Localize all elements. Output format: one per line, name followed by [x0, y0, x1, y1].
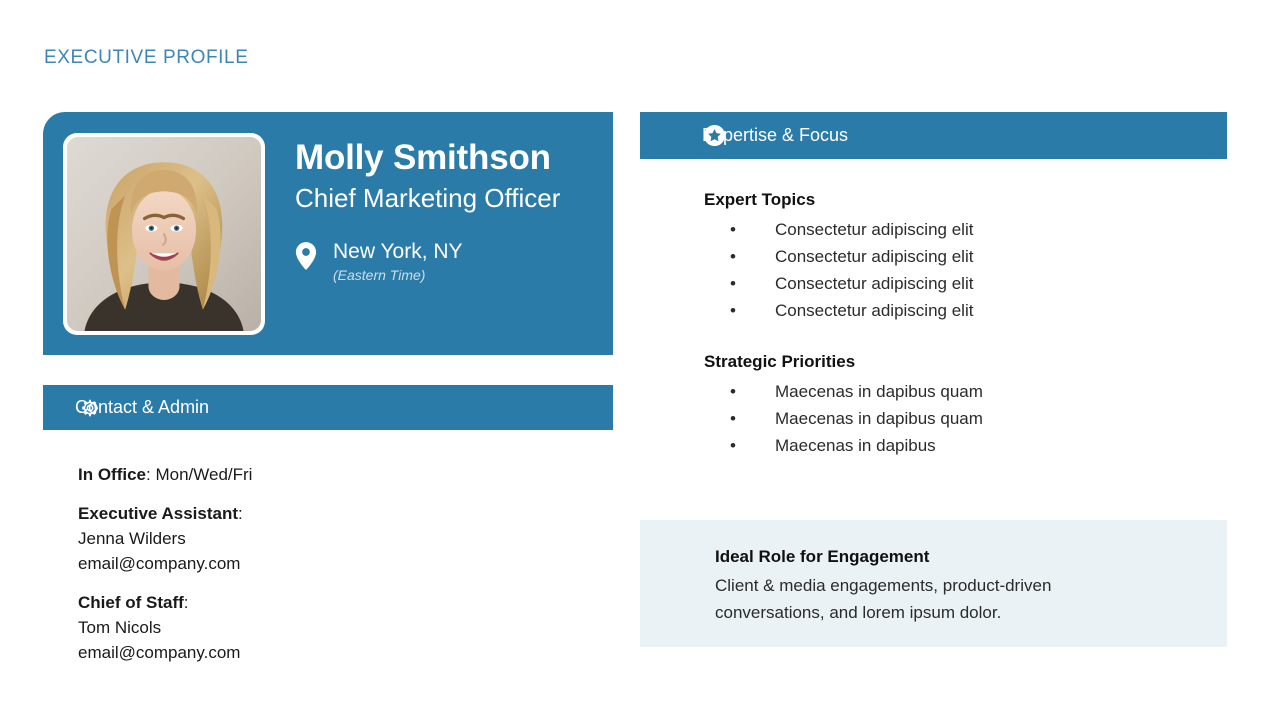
expert-topics-list: • Consectetur adipiscing elit • Consecte… [704, 216, 1224, 324]
contact-separator: : [238, 504, 243, 523]
bullet-icon: • [704, 243, 752, 270]
contact-line: In Office: Mon/Wed/Fri [78, 462, 598, 487]
group-spacer [704, 324, 1224, 352]
contact-email[interactable]: email@company.com [78, 640, 598, 665]
contact-label: Executive Assistant [78, 504, 238, 523]
location-timezone: (Eastern Time) [333, 267, 463, 283]
list-item-label: Maecenas in dapibus quam [752, 378, 983, 405]
contact-value: Mon/Wed/Fri [155, 465, 252, 484]
bullet-icon: • [704, 297, 752, 324]
avatar [63, 133, 265, 335]
strategic-priorities-group: Strategic Priorities • Maecenas in dapib… [704, 352, 1224, 459]
list-item: • Maecenas in dapibus [704, 432, 1224, 459]
bullet-icon: • [704, 432, 752, 459]
section-header-contact: Contact & Admin [43, 385, 613, 430]
callout-body-line: conversations, and lorem ipsum dolor. [715, 599, 1197, 626]
list-item-label: Maecenas in dapibus [752, 432, 936, 459]
profile-location: New York, NY (Eastern Time) [295, 240, 560, 283]
expert-topics-heading: Expert Topics [704, 190, 1224, 210]
list-item: • Maecenas in dapibus quam [704, 378, 1224, 405]
contact-email[interactable]: email@company.com [78, 551, 598, 576]
list-item-label: Consectetur adipiscing elit [752, 270, 973, 297]
contact-group-office: In Office: Mon/Wed/Fri [78, 462, 598, 487]
avatar-photo [67, 137, 261, 331]
strategic-priorities-heading: Strategic Priorities [704, 352, 1224, 372]
location-pin-icon [295, 241, 317, 271]
contact-person-name: Jenna Wilders [78, 526, 598, 551]
list-item-label: Maecenas in dapibus quam [752, 405, 983, 432]
gear-icon [78, 396, 102, 420]
contact-person-name: Tom Nicols [78, 615, 598, 640]
profile-job-title: Chief Marketing Officer [295, 183, 560, 214]
contact-line: Executive Assistant: [78, 501, 598, 526]
callout-title: Ideal Role for Engagement [715, 546, 1197, 568]
callout-body-line: Client & media engagements, product-driv… [715, 572, 1197, 599]
contact-group-executive-assistant: Executive Assistant: Jenna Wilders email… [78, 501, 598, 576]
list-item: • Consectetur adipiscing elit [704, 216, 1224, 243]
bullet-icon: • [704, 216, 752, 243]
profile-name: Molly Smithson [295, 138, 560, 177]
contact-label: Chief of Staff [78, 593, 184, 612]
ideal-role-callout: Ideal Role for Engagement Client & media… [640, 520, 1227, 647]
contact-line: Chief of Staff: [78, 590, 598, 615]
callout-body: Client & media engagements, product-driv… [715, 572, 1197, 626]
contact-separator: : [184, 593, 189, 612]
list-item-label: Consectetur adipiscing elit [752, 297, 973, 324]
strategic-priorities-list: • Maecenas in dapibus quam • Maecenas in… [704, 378, 1224, 459]
list-item-label: Consectetur adipiscing elit [752, 216, 973, 243]
profile-card: Molly Smithson Chief Marketing Officer N… [43, 112, 613, 355]
bullet-icon: • [704, 270, 752, 297]
list-item: • Consectetur adipiscing elit [704, 243, 1224, 270]
list-item: • Consectetur adipiscing elit [704, 270, 1224, 297]
expertise-content: Expert Topics • Consectetur adipiscing e… [704, 190, 1224, 459]
bullet-icon: • [704, 405, 752, 432]
location-city: New York, NY [333, 240, 463, 263]
star-circle-icon [702, 124, 726, 148]
contact-details: In Office: Mon/Wed/Fri Executive Assista… [78, 462, 598, 665]
list-item: • Consectetur adipiscing elit [704, 297, 1224, 324]
expert-topics-group: Expert Topics • Consectetur adipiscing e… [704, 190, 1224, 324]
contact-group-chief-of-staff: Chief of Staff: Tom Nicols email@company… [78, 590, 598, 665]
section-header-expertise: Expertise & Focus [640, 112, 1227, 159]
contact-label: In Office [78, 465, 146, 484]
list-item-label: Consectetur adipiscing elit [752, 243, 973, 270]
profile-identity: Molly Smithson Chief Marketing Officer N… [295, 138, 560, 283]
page-title: EXECUTIVE PROFILE [44, 47, 248, 69]
bullet-icon: • [704, 378, 752, 405]
list-item: • Maecenas in dapibus quam [704, 405, 1224, 432]
